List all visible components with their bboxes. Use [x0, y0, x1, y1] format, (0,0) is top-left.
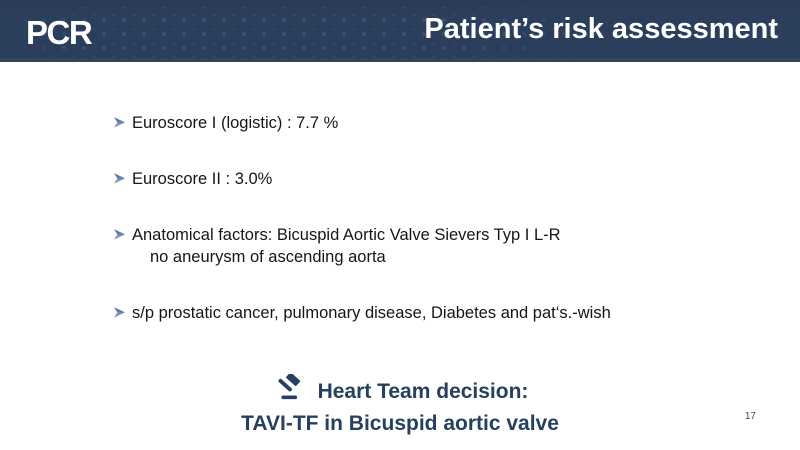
page-title: Patient’s risk assessment — [424, 12, 778, 47]
decision-line-1: Heart Team decision: — [0, 374, 800, 406]
arrowhead-bullet-icon — [112, 115, 127, 130]
list-item-text: s/p prostatic cancer, pulmonary disease,… — [132, 304, 611, 322]
header-bottom-shade — [0, 58, 800, 62]
list-item-subtext: no aneurysm of ascending aorta — [132, 246, 772, 269]
arrowhead-bullet-icon — [112, 227, 127, 242]
decision-line-1-text: Heart Team decision: — [318, 380, 529, 403]
list-item: Anatomical factors: Bicuspid Aortic Valv… — [112, 224, 772, 270]
page-number: 17 — [745, 411, 756, 422]
arrowhead-bullet-icon — [112, 305, 127, 320]
heart-team-decision-block: Heart Team decision: TAVI-TF in Bicuspid… — [0, 374, 800, 439]
list-item: Euroscore I (logistic) : 7.7 % — [112, 112, 772, 135]
list-item: Euroscore II : 3.0% — [112, 168, 772, 191]
list-item-text: Anatomical factors: Bicuspid Aortic Valv… — [132, 226, 561, 244]
bullet-list: Euroscore I (logistic) : 7.7 % Euroscore… — [112, 112, 772, 325]
pcr-logo: PCR — [26, 16, 91, 49]
list-item-text: Euroscore I (logistic) : 7.7 % — [132, 114, 338, 132]
arrowhead-bullet-icon — [112, 171, 127, 186]
list-item: s/p prostatic cancer, pulmonary disease,… — [112, 302, 772, 325]
slide: PCR Patient’s risk assessment Euroscore … — [0, 0, 800, 450]
list-item-text: Euroscore II : 3.0% — [132, 170, 272, 188]
decision-line-2: TAVI-TF in Bicuspid aortic valve — [0, 410, 800, 438]
gavel-icon — [272, 374, 306, 404]
header-top-shade — [0, 0, 800, 7]
